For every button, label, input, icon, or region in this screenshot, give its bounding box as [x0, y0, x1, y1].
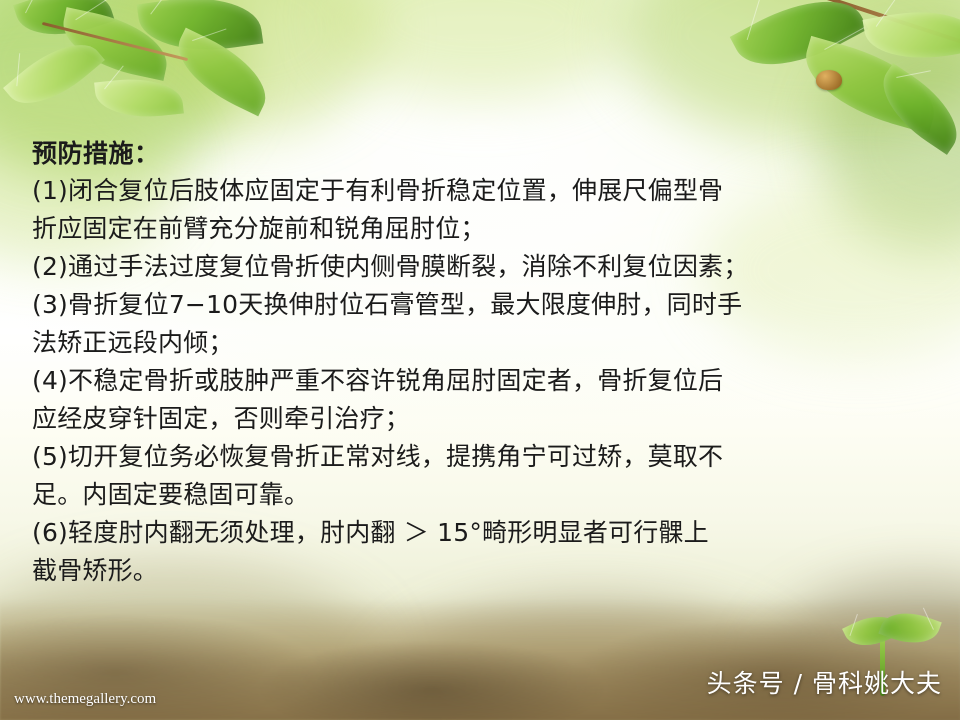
slide-body: 预防措施： (1)闭合复位后肢体应固定于有利骨折稳定位置，伸展尺偏型骨 折应固定…: [32, 136, 937, 590]
snail-icon: [816, 70, 842, 90]
slide-title: 预防措施：: [32, 136, 937, 172]
slide-paragraph: (1)闭合复位后肢体应固定于有利骨折稳定位置，伸展尺偏型骨 折应固定在前臂充分旋…: [32, 172, 937, 590]
slide: 预防措施： (1)闭合复位后肢体应固定于有利骨折稳定位置，伸展尺偏型骨 折应固定…: [0, 0, 960, 720]
footer-website-url: www.themegallery.com: [14, 691, 156, 708]
footer-author-credit: 头条号 / 骨科姚大夫: [707, 664, 942, 700]
